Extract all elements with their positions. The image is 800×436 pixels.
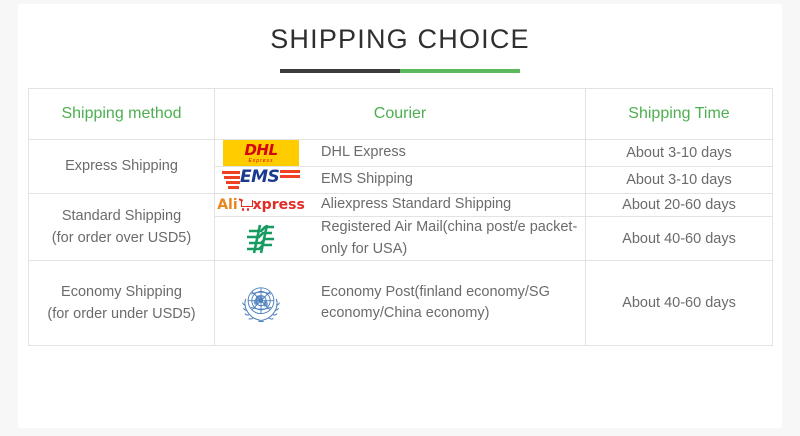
- logo-slot: [215, 280, 307, 326]
- courier-label-dhl: DHL Express: [321, 142, 406, 164]
- table-header-row: Shipping method Courier Shipping Time: [29, 89, 773, 140]
- table-body: Express Shipping DHL Express DHL Express…: [29, 140, 773, 346]
- ems-logo: EMS: [222, 167, 300, 193]
- courier-label-ems: EMS Shipping: [321, 169, 413, 191]
- courier-cell-china-post: Registered Air Mail(china post/e packet-…: [215, 216, 586, 261]
- courier-label-china-post: Registered Air Mail(china post/e packet-…: [321, 217, 585, 261]
- method-standard-line2: (for order over USD5): [29, 227, 214, 249]
- shipping-time-china-post: About 40-60 days: [586, 216, 773, 261]
- column-header-shipping-method: Shipping method: [29, 89, 215, 140]
- title-underline: [280, 69, 520, 73]
- dhl-logo-word: DHL: [244, 143, 277, 158]
- china-post-logo: [241, 219, 281, 259]
- logo-slot: EMS: [215, 167, 307, 193]
- courier-cell-united-nations: Economy Post(finland economy/SG economy/…: [215, 261, 586, 346]
- courier-cell-aliexpress: Ali xpress Aliexpress Standard Shi: [215, 194, 586, 217]
- aliexpress-logo-part1: Ali: [217, 198, 237, 212]
- column-header-shipping-time: Shipping Time: [586, 89, 773, 140]
- method-economy-line2: (for order under USD5): [29, 303, 214, 325]
- shipping-time-dhl: About 3-10 days: [586, 140, 773, 167]
- table-row: Express Shipping DHL Express DHL Express…: [29, 140, 773, 167]
- title-block: SHIPPING CHOICE: [18, 4, 782, 73]
- shipping-table: Shipping method Courier Shipping Time Ex…: [28, 88, 773, 346]
- method-standard-line1: Standard Shipping: [29, 205, 214, 227]
- title-underline-dark: [280, 69, 400, 73]
- logo-slot: [215, 219, 307, 259]
- ems-logo-bar: [226, 181, 240, 184]
- shipping-time-ems: About 3-10 days: [586, 167, 773, 194]
- ems-logo-bar: [228, 186, 239, 189]
- courier-cell-dhl: DHL Express DHL Express: [215, 140, 586, 167]
- ems-logo-word: EMS: [240, 169, 279, 186]
- shipping-time-united-nations: About 40-60 days: [586, 261, 773, 346]
- aliexpress-logo: Ali xpress: [217, 198, 305, 212]
- shopping-cart-icon: [239, 199, 252, 211]
- ems-logo-bar: [280, 170, 300, 173]
- ems-logo-bar: [224, 176, 240, 179]
- method-standard-shipping: Standard Shipping (for order over USD5): [29, 194, 215, 261]
- table-header: Shipping method Courier Shipping Time: [29, 89, 773, 140]
- shipping-time-aliexpress: About 20-60 days: [586, 194, 773, 217]
- ems-logo-bar: [222, 171, 240, 174]
- united-nations-logo: [238, 280, 284, 326]
- ems-logo-bar: [280, 175, 300, 178]
- table-row: Economy Shipping (for order under USD5): [29, 261, 773, 346]
- aliexpress-logo-part2: xpress: [253, 198, 305, 212]
- courier-label-united-nations: Economy Post(finland economy/SG economy/…: [321, 282, 585, 326]
- method-economy-shipping: Economy Shipping (for order under USD5): [29, 261, 215, 346]
- logo-slot: DHL Express: [215, 140, 307, 166]
- column-header-courier: Courier: [215, 89, 586, 140]
- shipping-choice-card: SHIPPING CHOICE Shipping method Courier …: [18, 4, 782, 428]
- courier-cell-ems: EMS EMS Shipping: [215, 167, 586, 194]
- page-title: SHIPPING CHOICE: [18, 26, 782, 53]
- dhl-logo: DHL Express: [223, 140, 299, 166]
- method-economy-line1: Economy Shipping: [29, 281, 214, 303]
- table-row: Standard Shipping (for order over USD5) …: [29, 194, 773, 217]
- courier-label-aliexpress: Aliexpress Standard Shipping: [321, 194, 511, 216]
- title-underline-accent: [400, 69, 520, 73]
- logo-slot: Ali xpress: [215, 198, 307, 212]
- dhl-logo-subtitle: Express: [248, 159, 273, 164]
- method-express-shipping: Express Shipping: [29, 140, 215, 194]
